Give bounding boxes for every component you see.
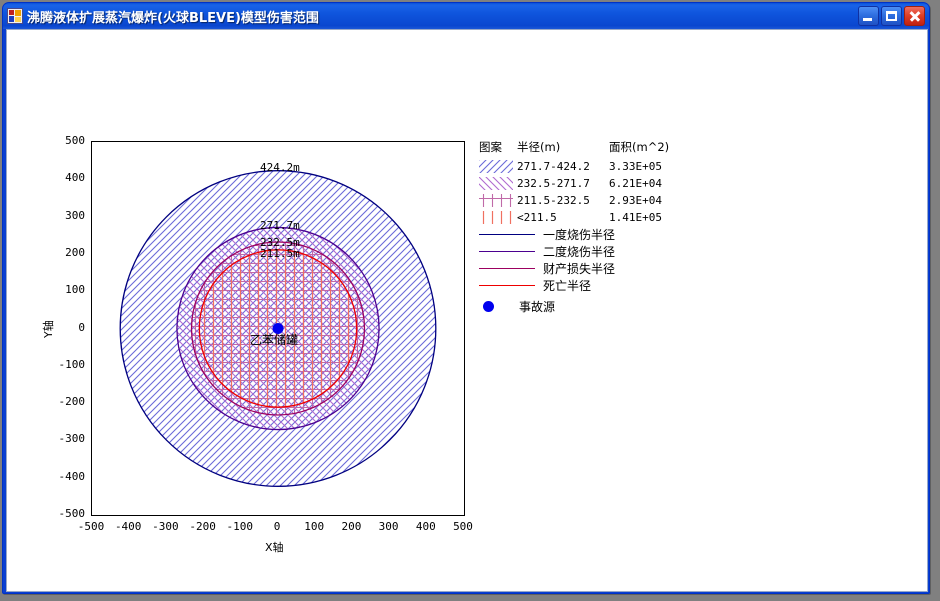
x-axis-label: X轴 — [265, 539, 284, 555]
ring-label-r2: 271.7m — [260, 219, 300, 232]
legend-area-value: 2.93E+04 — [609, 194, 679, 207]
legend-line-row: 一度烧伤半径 — [479, 226, 679, 243]
legend-header: 图案 半径(m) 面积(m^2) — [479, 139, 679, 155]
x-tick-label: -300 — [145, 520, 185, 533]
x-tick-label: 300 — [369, 520, 409, 533]
y-tick-label: 500 — [43, 134, 85, 147]
ring-label-r4: 211.5m — [260, 247, 300, 260]
minimize-button[interactable] — [858, 6, 879, 26]
window-client-area: 5004003002001000-100-200-300-400-500 -50… — [6, 29, 928, 592]
window-controls — [858, 6, 925, 26]
legend-line-row: 死亡半径 — [479, 277, 679, 294]
legend-radius-value: 211.5-232.5 — [517, 194, 609, 207]
legend-swatch-back-diagonal-icon — [479, 177, 513, 190]
title-bar[interactable]: 沸腾液体扩展蒸汽爆炸(火球BLEVE)模型伤害范围 — [3, 3, 929, 29]
x-tick-label: -400 — [108, 520, 148, 533]
y-tick-label: 400 — [43, 171, 85, 184]
plot-area — [91, 141, 465, 516]
legend-pattern-rows: 271.7-424.23.33E+05232.5-271.76.21E+0421… — [479, 158, 679, 226]
x-tick-label: 200 — [331, 520, 371, 533]
x-tick-label: 0 — [257, 520, 297, 533]
legend-line-row: 财产损失半径 — [479, 260, 679, 277]
legend: 图案 半径(m) 面积(m^2) 271.7-424.23.33E+05232.… — [479, 139, 679, 316]
legend-header-radius: 半径(m) — [517, 139, 609, 155]
legend-line-label: 一度烧伤半径 — [543, 226, 615, 243]
legend-area-value: 1.41E+05 — [609, 211, 679, 224]
legend-swatch-vertical-icon — [479, 211, 513, 224]
x-tick-label: 400 — [406, 520, 446, 533]
x-tick-label: 100 — [294, 520, 334, 533]
y-tick-label: 200 — [43, 246, 85, 259]
legend-line-icon — [479, 268, 535, 269]
y-tick-label: -400 — [43, 470, 85, 483]
y-tick-label: 300 — [43, 209, 85, 222]
ring-label-r1: 424.2m — [260, 161, 300, 174]
legend-pattern-row: 271.7-424.23.33E+05 — [479, 158, 679, 175]
legend-header-pattern: 图案 — [479, 139, 517, 155]
y-axis-label: Y轴 — [40, 320, 56, 338]
legend-line-icon — [479, 234, 535, 235]
source-point-label: 乙苯储罐 — [250, 331, 298, 348]
x-tick-label: -100 — [220, 520, 260, 533]
legend-pattern-row: 211.5-232.52.93E+04 — [479, 192, 679, 209]
maximize-button[interactable] — [881, 6, 902, 26]
close-icon[interactable] — [904, 6, 925, 26]
legend-radius-value: <211.5 — [517, 211, 609, 224]
legend-swatch-grid-icon — [479, 194, 513, 207]
source-dot-icon — [483, 301, 494, 312]
legend-line-row: 二度烧伤半径 — [479, 243, 679, 260]
y-tick-label: -300 — [43, 432, 85, 445]
legend-line-label: 二度烧伤半径 — [543, 243, 615, 260]
damage-range-figure: 5004003002001000-100-200-300-400-500 -50… — [7, 30, 927, 591]
legend-pattern-row: <211.51.41E+05 — [479, 209, 679, 226]
legend-line-rows: 一度烧伤半径二度烧伤半径财产损失半径死亡半径 — [479, 226, 679, 294]
legend-source-row: 事故源 — [479, 296, 679, 316]
legend-line-icon — [479, 285, 535, 286]
window-title: 沸腾液体扩展蒸汽爆炸(火球BLEVE)模型伤害范围 — [27, 7, 319, 26]
y-tick-label: 100 — [43, 283, 85, 296]
y-tick-label: -200 — [43, 395, 85, 408]
x-tick-label: 500 — [443, 520, 483, 533]
legend-area-value: 3.33E+05 — [609, 160, 679, 173]
legend-header-area: 面积(m^2) — [609, 139, 679, 155]
x-tick-label: -200 — [183, 520, 223, 533]
legend-pattern-row: 232.5-271.76.21E+04 — [479, 175, 679, 192]
legend-line-icon — [479, 251, 535, 252]
legend-radius-value: 232.5-271.7 — [517, 177, 609, 190]
legend-swatch-forward-diagonal-icon — [479, 160, 513, 173]
y-tick-label: -100 — [43, 358, 85, 371]
legend-area-value: 6.21E+04 — [609, 177, 679, 190]
legend-radius-value: 271.7-424.2 — [517, 160, 609, 173]
rings-svg — [92, 142, 464, 515]
legend-line-label: 财产损失半径 — [543, 260, 615, 277]
x-tick-label: -500 — [71, 520, 111, 533]
legend-line-label: 死亡半径 — [543, 277, 591, 294]
legend-source-label: 事故源 — [519, 298, 555, 315]
application-window: 沸腾液体扩展蒸汽爆炸(火球BLEVE)模型伤害范围 50040030020010… — [2, 2, 930, 594]
y-tick-label: -500 — [43, 507, 85, 520]
app-icon — [7, 8, 23, 24]
